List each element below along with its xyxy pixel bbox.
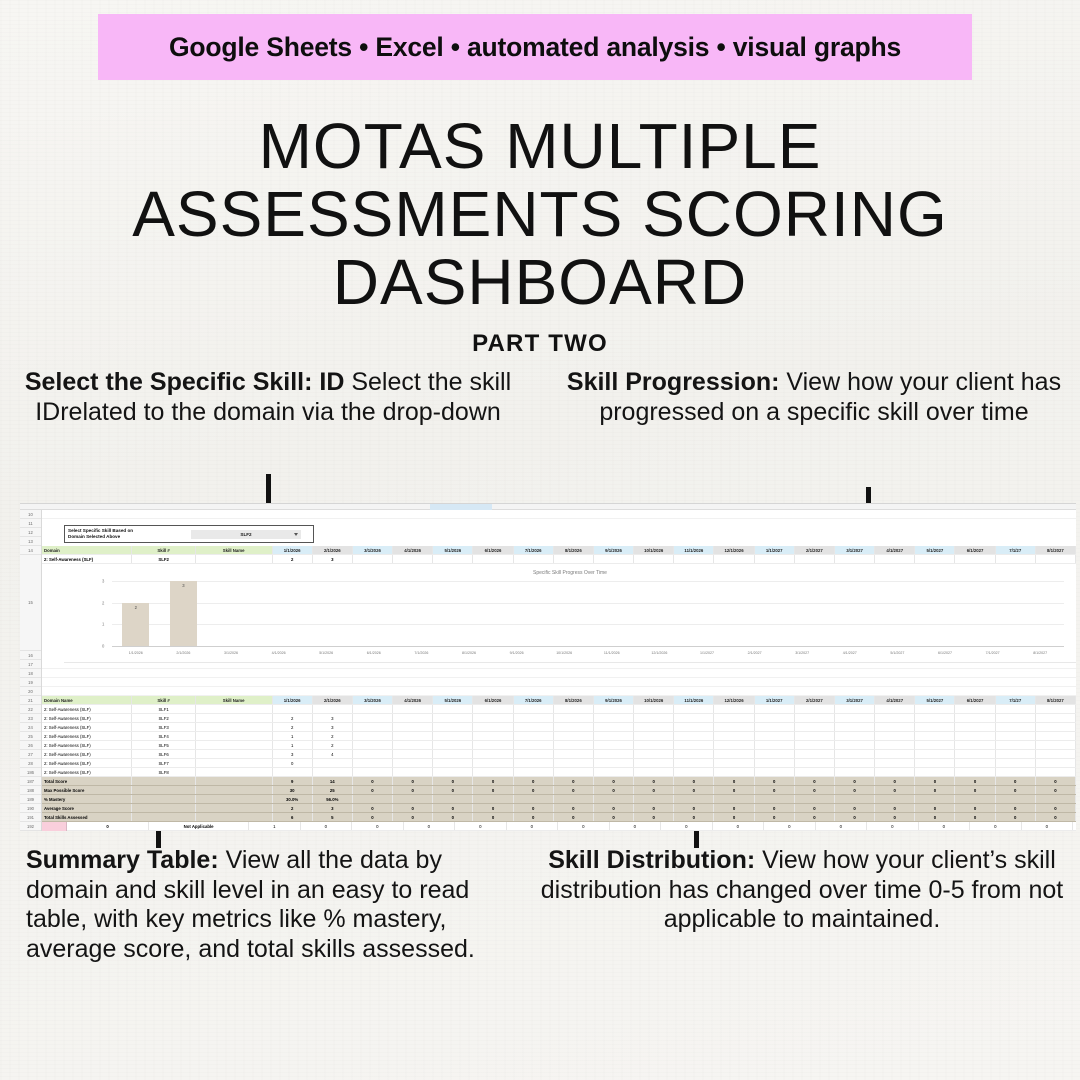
metric-value: [594, 795, 634, 803]
metric-value: 0: [714, 813, 754, 821]
cell-score: [835, 732, 875, 740]
chart-title: Specific Skill Progress Over Time: [64, 570, 1076, 576]
metric-value: 0: [594, 804, 634, 812]
metric-value: 25: [313, 786, 353, 794]
date-header: 7/1/2026: [514, 696, 554, 704]
metric-value: 0: [473, 804, 513, 812]
cell-score: [393, 759, 433, 767]
cell-score: [835, 768, 875, 776]
metric-value: 0: [996, 777, 1036, 785]
cell-score: [835, 723, 875, 731]
cell-score: [755, 759, 795, 767]
cell-score: [714, 768, 754, 776]
row-number[interactable]: 17: [20, 660, 41, 669]
distribution-value: 0: [867, 822, 919, 830]
feature-banner: Google Sheets • Excel • automated analys…: [98, 14, 972, 80]
summary-header-skill-num: Skill #: [132, 696, 195, 704]
date-header: 2/1/2026: [313, 546, 353, 554]
cell-skill-num: SLF5: [132, 741, 195, 749]
page-title: MOTAS MULTIPLE ASSESSMENTS SCORING DASHB…: [0, 112, 1080, 316]
specific-skill-selector[interactable]: Select Specific Skill Based on Domain Se…: [64, 525, 314, 543]
metric-value: 0: [996, 813, 1036, 821]
cell-score: [514, 741, 554, 749]
metric-value: 0: [835, 813, 875, 821]
cell-score: [634, 741, 674, 749]
summary-header-domain: Domain Name: [42, 696, 132, 704]
cell-domain: 2: Self-Awareness (SLF): [42, 723, 132, 731]
row-number[interactable]: 23: [20, 714, 41, 723]
chart-bar-label: 2: [122, 605, 149, 610]
summary-metric-row: Total Skills Assessed6500000000000000000…: [42, 813, 1076, 822]
metric-value: 0: [353, 804, 393, 812]
metric-value: 0: [594, 777, 634, 785]
annotation-select-specific-skill-title: Select the Specific Skill: ID: [25, 368, 345, 396]
metric-value: 6: [273, 813, 313, 821]
cell-score: [1036, 723, 1076, 731]
cell-domain: 2: Self-Awareness (SLF): [42, 741, 132, 749]
chart-x-tick: 10/1/2026: [556, 651, 572, 655]
skill-distribution-grid: 0Not Applicable100000000000000000001Pre-…: [67, 822, 1076, 831]
date-header: 3/1/2027: [835, 696, 875, 704]
cell-score: [875, 705, 915, 713]
cell-score: [795, 723, 835, 731]
row-number[interactable]: 16: [20, 651, 41, 660]
cell-score: [273, 768, 313, 776]
annotation-skill-distribution: Skill Distribution: View how your client…: [528, 846, 1076, 935]
distribution-value: 0: [558, 822, 610, 830]
cell-score: [996, 723, 1036, 731]
row-number[interactable]: 187: [20, 777, 41, 786]
cell-score: [594, 750, 634, 758]
cell-skill-num: SLF4: [132, 732, 195, 740]
cell-score: [674, 714, 714, 722]
cell-score: [634, 768, 674, 776]
table-row[interactable]: 2: Self-Awareness (SLF)SLF634: [42, 750, 1076, 759]
cell-score: [473, 723, 513, 731]
selected-skill-value: [514, 555, 554, 563]
metric-value: 0: [996, 804, 1036, 812]
annotation-skill-distribution-title: Skill Distribution:: [548, 846, 755, 874]
distribution-value: 0: [1073, 822, 1076, 830]
cell-score: [674, 759, 714, 767]
cell-score: [433, 741, 473, 749]
cell-score: [433, 768, 473, 776]
cell-skill-name: [196, 723, 273, 731]
date-header: 7/1/2026: [514, 546, 554, 554]
date-header: 8/1/2027: [1036, 546, 1076, 554]
cell-score: 2: [273, 723, 313, 731]
metric-value: 0: [353, 786, 393, 794]
metric-value: 0: [835, 777, 875, 785]
metric-value: 0: [996, 786, 1036, 794]
date-header: 1/1/2027: [755, 696, 795, 704]
distribution-value: 0: [352, 822, 404, 830]
date-header: 4/1/2027: [875, 546, 915, 554]
selected-skill-value: [955, 555, 995, 563]
cell-score: [473, 759, 513, 767]
cell-score: [714, 750, 754, 758]
distribution-value: 0: [970, 822, 1022, 830]
cell-score: 4: [313, 750, 353, 758]
cell-score: [393, 732, 433, 740]
cell-score: [915, 750, 955, 758]
cell-skill-num: SLF8: [132, 768, 195, 776]
spacer-row: [42, 678, 1076, 687]
cell-score: [714, 705, 754, 713]
cell-score: [795, 759, 835, 767]
row-number[interactable]: 19: [20, 678, 41, 687]
chart-x-tick: 5/1/2026: [319, 651, 333, 655]
distribution-value: 0: [610, 822, 662, 830]
title-line-1: MOTAS MULTIPLE: [0, 112, 1080, 180]
skill-distribution-rows: Skills Distribution (# of Skills Based o…: [42, 822, 1076, 831]
row-number[interactable]: 28: [20, 759, 41, 768]
cell-score: [835, 741, 875, 749]
date-header: 11/1/2026: [674, 546, 714, 554]
date-header: 1/1/2026: [273, 696, 313, 704]
cell-score: [915, 732, 955, 740]
metric-value: 0: [393, 804, 433, 812]
chart-bar-label: 3: [170, 583, 197, 588]
cell-domain: 2: Self-Awareness (SLF): [42, 768, 132, 776]
chart-x-tick: 11/1/2026: [604, 651, 620, 655]
selected-skill-value: [915, 555, 955, 563]
chart-gridline: [112, 624, 1064, 625]
date-header: 12/1/2026: [714, 546, 754, 554]
summary-total-rows: Total Score914000000000000000000Max Poss…: [42, 777, 1076, 822]
metric-label: Average Score: [42, 804, 132, 812]
cell-score: [996, 759, 1036, 767]
cell-score: [714, 723, 754, 731]
row-number[interactable]: 188: [20, 786, 41, 795]
metric-value: 0: [915, 777, 955, 785]
table-row[interactable]: 2: Self-Awareness (SLF)SLF512: [42, 741, 1076, 750]
metric-value: 0: [393, 777, 433, 785]
date-header: 8/1/2027: [1036, 696, 1076, 704]
metric-value: 0: [594, 813, 634, 821]
cell-score: [1036, 705, 1076, 713]
metric-value: 0: [795, 813, 835, 821]
cell-score: [875, 741, 915, 749]
date-header: 6/1/2027: [955, 546, 995, 554]
skill-distribution-block: Skills Distribution (# of Skills Based o…: [42, 822, 1076, 831]
metric-value: 30: [273, 786, 313, 794]
spacer-row: [42, 687, 1076, 696]
cell-score: 2: [273, 714, 313, 722]
cell-score: [1036, 714, 1076, 722]
cell-score: [915, 741, 955, 749]
cell-score: [353, 741, 393, 749]
cell-score: [714, 759, 754, 767]
cell-domain: 2: Self-Awareness (SLF): [42, 714, 132, 722]
metric-value: 0: [393, 786, 433, 794]
date-header: 10/1/2026: [634, 546, 674, 554]
row-number[interactable]: 22: [20, 705, 41, 714]
metric-value: 0: [514, 804, 554, 812]
cell-score: [915, 705, 955, 713]
metric-pad: [132, 804, 195, 812]
metric-value: 0: [634, 777, 674, 785]
cell-score: [514, 723, 554, 731]
metric-value: 0: [795, 786, 835, 794]
row-number[interactable]: 24: [20, 723, 41, 732]
date-header: 6/1/2026: [473, 696, 513, 704]
cell-score: [554, 705, 594, 713]
metric-value: 0: [795, 777, 835, 785]
selected-skill-value: 2: [273, 555, 313, 563]
table-row[interactable]: 2: Self-Awareness (SLF)SLF70: [42, 759, 1076, 768]
cell-score: [835, 759, 875, 767]
cell-score: [996, 741, 1036, 749]
row-number[interactable]: 190: [20, 804, 41, 813]
summary-skill-rows: 2: Self-Awareness (SLF)SLF12: Self-Aware…: [42, 705, 1076, 777]
metric-pad: [132, 786, 195, 794]
cell-score: [955, 705, 995, 713]
cell-score: [313, 768, 353, 776]
chart-gridline: [112, 581, 1064, 582]
cell-score: [674, 750, 714, 758]
row-number[interactable]: 15: [20, 555, 41, 651]
cell-score: [514, 714, 554, 722]
cell-score: [393, 768, 433, 776]
date-header: 4/1/2026: [393, 696, 433, 704]
cell-score: [674, 705, 714, 713]
row-number[interactable]: 11: [20, 519, 41, 528]
date-header: 2/1/2026: [313, 696, 353, 704]
spreadsheet-screenshot[interactable]: 1011121314151617181920212223242526272818…: [20, 503, 1076, 831]
cell-score: [433, 714, 473, 722]
table-row[interactable]: 2: Self-Awareness (SLF)SLF412: [42, 732, 1076, 741]
metric-value: 0: [554, 786, 594, 794]
cell-score: [353, 714, 393, 722]
skill-progress-chart[interactable]: Specific Skill Progress Over Time 012321…: [64, 567, 1076, 663]
metric-value: 0: [433, 804, 473, 812]
cell-score: [313, 759, 353, 767]
selected-skill-value: [714, 555, 754, 563]
annotation-summary-table: Summary Table: View all the data by doma…: [26, 846, 526, 964]
cell-score: [634, 759, 674, 767]
table-row[interactable]: 2: Self-Awareness (SLF)SLF223: [42, 714, 1076, 723]
metric-pad: [196, 786, 273, 794]
chart-x-tick: 7/1/2027: [986, 651, 1000, 655]
date-header: 8/1/2026: [554, 696, 594, 704]
row-number[interactable]: 10: [20, 510, 41, 519]
cell-score: [594, 714, 634, 722]
metric-value: 0: [835, 804, 875, 812]
cell-score: [955, 750, 995, 758]
cell-score: [915, 714, 955, 722]
row-number[interactable]: 18: [20, 669, 41, 678]
header-domain: Domain: [42, 546, 132, 554]
cell-skill-num: SLF3: [132, 723, 195, 731]
metric-value: 0: [755, 777, 795, 785]
cell-score: [875, 768, 915, 776]
metric-value: 0: [674, 777, 714, 785]
chart-gridline: [112, 646, 1064, 647]
metric-label: Total Score: [42, 777, 132, 785]
cell-score: [554, 741, 594, 749]
cell-score: [755, 768, 795, 776]
row-number[interactable]: 12: [20, 528, 41, 537]
summary-metric-row: Total Score914000000000000000000: [42, 777, 1076, 786]
cell-score: [634, 750, 674, 758]
chart-plot-area: 012321/1/202632/1/20263/1/20264/1/20265/…: [112, 581, 1064, 646]
cell-score: [554, 759, 594, 767]
cell-score: [955, 759, 995, 767]
cell-skill-name: [196, 705, 273, 713]
cell-score: 3: [273, 750, 313, 758]
cell-score: [554, 768, 594, 776]
cell-score: [674, 741, 714, 749]
date-header: 6/1/2026: [473, 546, 513, 554]
cell-score: [1036, 732, 1076, 740]
metric-value: [996, 795, 1036, 803]
metric-value: 30.0%: [273, 795, 313, 803]
selected-skill-value: 3: [313, 555, 353, 563]
cell-score: [714, 732, 754, 740]
selected-skill-value: [554, 555, 594, 563]
metric-value: 0: [634, 786, 674, 794]
metric-value: 0: [955, 804, 995, 812]
date-header: 3/1/2027: [835, 546, 875, 554]
row-number[interactable]: 21: [20, 696, 41, 705]
cell-score: [714, 714, 754, 722]
chart-bar[interactable]: 2: [122, 603, 149, 646]
metric-value: 0: [514, 777, 554, 785]
metric-value: 0: [514, 786, 554, 794]
selected-skill-value: [674, 555, 714, 563]
metric-value: 0: [353, 813, 393, 821]
cell-score: [554, 732, 594, 740]
cell-score: [674, 723, 714, 731]
chart-x-tick: 1/1/2027: [700, 651, 714, 655]
cell-score: [634, 714, 674, 722]
selected-skill-value: [393, 555, 433, 563]
row-number[interactable]: 27: [20, 750, 41, 759]
row-number[interactable]: 191: [20, 813, 41, 822]
cell-score: [955, 714, 995, 722]
cell-score: [393, 741, 433, 749]
cell-skill-name: [196, 714, 273, 722]
distribution-code: 0: [67, 822, 149, 830]
chart-y-tick: 2: [102, 600, 104, 605]
metric-pad: [132, 813, 195, 821]
table-row[interactable]: 2: Self-Awareness (SLF)SLF323: [42, 723, 1076, 732]
row-number[interactable]: 186: [20, 768, 41, 777]
metric-value: [1036, 795, 1076, 803]
cell-score: [353, 768, 393, 776]
date-header: 6/1/2027: [955, 696, 995, 704]
date-header: 9/1/2026: [594, 546, 634, 554]
cell-score: [393, 750, 433, 758]
table-row[interactable]: 2: Self-Awareness (SLF)SLF8: [42, 768, 1076, 777]
cell-score: [955, 732, 995, 740]
row-number[interactable]: 20: [20, 687, 41, 696]
sheet-grid: Select Specific Skill Based on Domain Se…: [42, 510, 1076, 831]
chart-x-tick: 8/1/2026: [462, 651, 476, 655]
metric-value: 0: [755, 804, 795, 812]
cell-score: [433, 759, 473, 767]
distribution-value: 0: [301, 822, 353, 830]
metric-value: 0: [634, 813, 674, 821]
cell-domain: 2: Self-Awareness (SLF): [42, 759, 132, 767]
summary-metric-row: Max Possible Score3025000000000000000000: [42, 786, 1076, 795]
date-header: 11/1/2026: [674, 696, 714, 704]
cell-score: [353, 750, 393, 758]
cell-skill-name: [196, 732, 273, 740]
specific-skill-dropdown[interactable]: SLF2: [191, 530, 301, 539]
annotation-select-specific-skill: Select the Specific Skill: ID Select the…: [8, 368, 528, 427]
cell-score: [1036, 768, 1076, 776]
cell-score: [514, 705, 554, 713]
cell-score: 1: [273, 741, 313, 749]
row-number[interactable]: 192: [20, 822, 41, 831]
cell-skill-num: SLF2: [132, 714, 195, 722]
metric-value: 0: [1036, 777, 1076, 785]
metric-value: 0: [433, 813, 473, 821]
metric-value: 0: [915, 786, 955, 794]
header-skill-name: Skill Name: [196, 546, 273, 554]
cell-score: [594, 732, 634, 740]
annotation-skill-progression: Skill Progression: View how your client …: [556, 368, 1072, 427]
chart-bar[interactable]: 3: [170, 581, 197, 646]
metric-value: [875, 795, 915, 803]
row-number[interactable]: 14: [20, 546, 41, 555]
cell-skill-name: [196, 768, 273, 776]
metric-pad: [196, 804, 273, 812]
cell-score: [554, 714, 594, 722]
chart-x-tick: 7/1/2026: [414, 651, 428, 655]
chart-x-tick: 6/1/2027: [938, 651, 952, 655]
metric-value: 0: [955, 813, 995, 821]
date-header: 2/1/2027: [795, 546, 835, 554]
table-row[interactable]: 2: Self-Awareness (SLF)SLF1: [42, 705, 1076, 714]
cell-score: [634, 723, 674, 731]
cell-score: [714, 741, 754, 749]
selected-skill-value: [835, 555, 875, 563]
date-header: 3/1/2026: [353, 546, 393, 554]
metric-pad: [196, 777, 273, 785]
row-number[interactable]: 26: [20, 741, 41, 750]
metric-value: [674, 795, 714, 803]
row-number[interactable]: 25: [20, 732, 41, 741]
metric-value: [755, 795, 795, 803]
cell-skill-num: SLF6: [132, 750, 195, 758]
row-number[interactable]: 189: [20, 795, 41, 804]
cell-score: [1036, 741, 1076, 749]
metric-value: [634, 795, 674, 803]
specific-skill-selector-label: Select Specific Skill Based on Domain Se…: [65, 528, 185, 539]
date-header: 4/1/2026: [393, 546, 433, 554]
selected-skill-value: [1036, 555, 1076, 563]
metric-value: 0: [875, 777, 915, 785]
cell-score: [755, 723, 795, 731]
metric-value: [955, 795, 995, 803]
selected-skill-value: [755, 555, 795, 563]
cell-score: [996, 768, 1036, 776]
date-header: 8/1/2026: [554, 546, 594, 554]
cell-score: [313, 705, 353, 713]
title-line-2: ASSESSMENTS SCORING: [0, 180, 1080, 248]
cell-score: [795, 741, 835, 749]
metric-value: 0: [594, 786, 634, 794]
cell-score: [875, 723, 915, 731]
cell-score: [393, 705, 433, 713]
metric-value: [514, 795, 554, 803]
row-number[interactable]: 13: [20, 537, 41, 546]
metric-value: 56.0%: [313, 795, 353, 803]
cell-score: [473, 741, 513, 749]
